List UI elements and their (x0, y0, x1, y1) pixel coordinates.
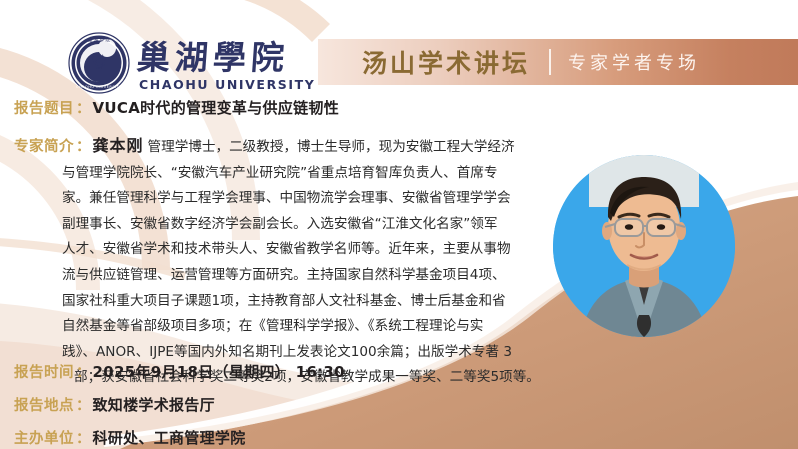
bio-line-7: 自然基金等省部级项目多项；在《管理科学学报》、《系统工程理论与实 (14, 314, 574, 340)
svg-text:巢 湖 學 院: 巢 湖 學 院 (88, 36, 110, 43)
forum-subtitle: 专家学者专场 (568, 49, 700, 75)
report-time-row: 报告时间 ： 2025年9月18日（星期四） 16:30 (14, 361, 345, 382)
report-place-row: 报告地点 ： 致知楼学术报告厅 (14, 394, 215, 415)
university-name-cn: 巢湖學院 (136, 41, 317, 75)
bio-line-first: 专家简介：龚本刚管理学博士，二级教授，博士生导师，现为安徽工程大学经济 (14, 133, 574, 161)
svg-text:CHAOHU UNIVERSITY: CHAOHU UNIVERSITY (76, 85, 122, 89)
speaker-name: 龚本刚 (93, 136, 144, 155)
university-name-block: 巢湖學院 CHAOHU UNIVERSITY (137, 41, 315, 92)
speaker-bio-colon: ： (74, 139, 93, 155)
svg-text:1977: 1977 (96, 66, 103, 70)
bio-line-5: 流与供应链管理、运营管理等方面研究。主持国家自然科学基金项目4项、 (14, 263, 574, 289)
bio-line-0: 管理学博士，二级教授，博士生导师，现为安徽工程大学经济 (148, 139, 515, 155)
report-title-value: VUCA时代的管理变革与供应链韧性 (93, 97, 340, 118)
report-time-label: 报告时间 (14, 361, 74, 382)
host-colon: ： (74, 427, 93, 448)
report-place-label: 报告地点 (14, 394, 74, 415)
bio-line-3: 副理事长、安徽省数字经济学会副会长。入选安徽省“江淮文化名家”领军 (14, 212, 574, 238)
bio-line-4: 人才、安徽省学术和技术带头人、安徽省教学名师等。近年来，主要从事物 (14, 237, 574, 263)
bio-line-2: 家。兼任管理科学与工程学会理事、中国物流学会理事、安徽省管理学学会 (14, 186, 574, 212)
forum-title: 汤山学术讲坛 (362, 44, 530, 80)
speaker-bio-text: 专家简介：龚本刚管理学博士，二级教授，博士生导师，现为安徽工程大学经济 与管理学… (14, 133, 574, 391)
report-title-label: 报告题目 (14, 97, 74, 118)
host-organization-row: 主办单位 ： 科研处、工商管理学院 (14, 427, 246, 448)
banner-divider (549, 49, 551, 75)
forum-banner: 汤山学术讲坛 专家学者专场 (318, 39, 798, 85)
host-value: 科研处、工商管理学院 (93, 427, 246, 448)
report-title-row: 报告题目 ： VUCA时代的管理变革与供应链韧性 (14, 97, 339, 118)
report-time-colon: ： (74, 361, 93, 382)
seminar-poster: 巢 湖 學 院 CHAOHU UNIVERSITY 1977 巢湖學院 CHAO… (0, 0, 798, 449)
report-place-value: 致知楼学术报告厅 (93, 394, 215, 415)
poster-header: 巢 湖 學 院 CHAOHU UNIVERSITY 1977 巢湖學院 CHAO… (0, 0, 798, 96)
university-name-en: CHAOHU UNIVERSITY (139, 77, 315, 92)
speaker-bio-label: 专家简介 (14, 139, 74, 155)
host-label: 主办单位 (14, 427, 74, 448)
report-place-colon: ： (74, 394, 93, 415)
bio-line-6: 国家社科重大项目子课题1项，主持教育部人文社科基金、博士后基金和省 (14, 289, 574, 315)
report-time-value: 2025年9月18日（星期四） 16:30 (93, 361, 345, 382)
report-title-colon: ： (74, 97, 93, 118)
bio-line-1: 与管理学院院长、“安徽汽车产业研究院”省重点培育智库负责人、首席专 (14, 161, 574, 187)
university-logo: 巢 湖 學 院 CHAOHU UNIVERSITY 1977 巢湖學院 CHAO… (68, 32, 315, 94)
chaohu-university-crest-icon: 巢 湖 學 院 CHAOHU UNIVERSITY 1977 (68, 32, 130, 94)
speaker-bio-block: 专家简介：龚本刚管理学博士，二级教授，博士生导师，现为安徽工程大学经济 与管理学… (14, 133, 574, 391)
speaker-portrait (553, 155, 735, 337)
